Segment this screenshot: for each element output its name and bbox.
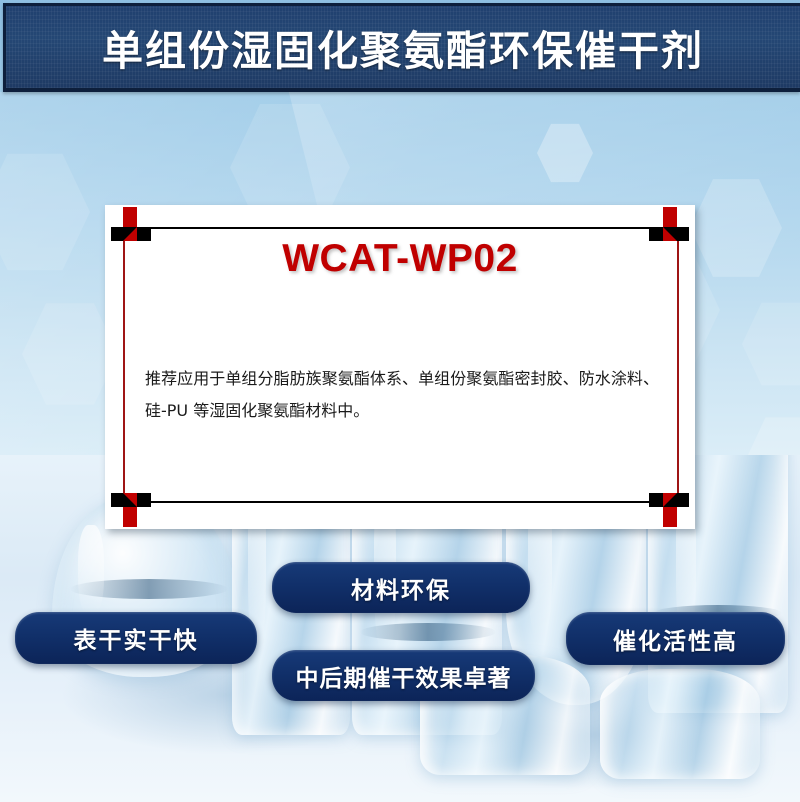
- card-rule-top: [123, 227, 677, 229]
- product-card: WCAT-WP02 推荐应用于单组分脂肪族聚氨酯体系、单组份聚氨酯密封胶、防水涂…: [105, 205, 695, 529]
- glass-base: [600, 669, 760, 779]
- product-description: 推荐应用于单组分脂肪族聚氨酯体系、单组份聚氨酯密封胶、防水涂料、硅-PU 等湿固…: [145, 363, 659, 427]
- feature-badge-eco-material[interactable]: 材料环保: [272, 562, 530, 613]
- corner-mark-bottom-right: [629, 479, 689, 527]
- corner-diagonal: [663, 493, 677, 507]
- feature-badge-late-stage-drying[interactable]: 中后期催干效果卓著: [272, 650, 535, 701]
- feature-badge-label: 催化活性高: [613, 622, 738, 656]
- corner-mark-bottom-left: [111, 479, 171, 527]
- page-title: 单组份湿固化聚氨酯环保催干剂: [102, 17, 704, 77]
- glass-refraction: [360, 623, 496, 641]
- product-code: WCAT-WP02: [105, 237, 695, 281]
- header-banner: 单组份湿固化聚氨酯环保催干剂: [3, 3, 800, 92]
- feature-badge-label: 表干实干快: [74, 621, 199, 655]
- feature-badge-label: 材料环保: [351, 571, 451, 605]
- corner-diagonal: [123, 493, 137, 507]
- feature-badge-label: 中后期催干效果卓著: [296, 659, 512, 693]
- card-rule-bottom: [123, 501, 677, 503]
- glass-highlight: [78, 525, 104, 615]
- feature-badge-high-activity[interactable]: 催化活性高: [566, 612, 785, 665]
- feature-badge-surface-dry[interactable]: 表干实干快: [15, 612, 257, 664]
- product-card-inner: WCAT-WP02 推荐应用于单组分脂肪族聚氨酯体系、单组份聚氨酯密封胶、防水涂…: [105, 205, 695, 529]
- poster-root: 单组份湿固化聚氨酯环保催干剂: [0, 0, 800, 802]
